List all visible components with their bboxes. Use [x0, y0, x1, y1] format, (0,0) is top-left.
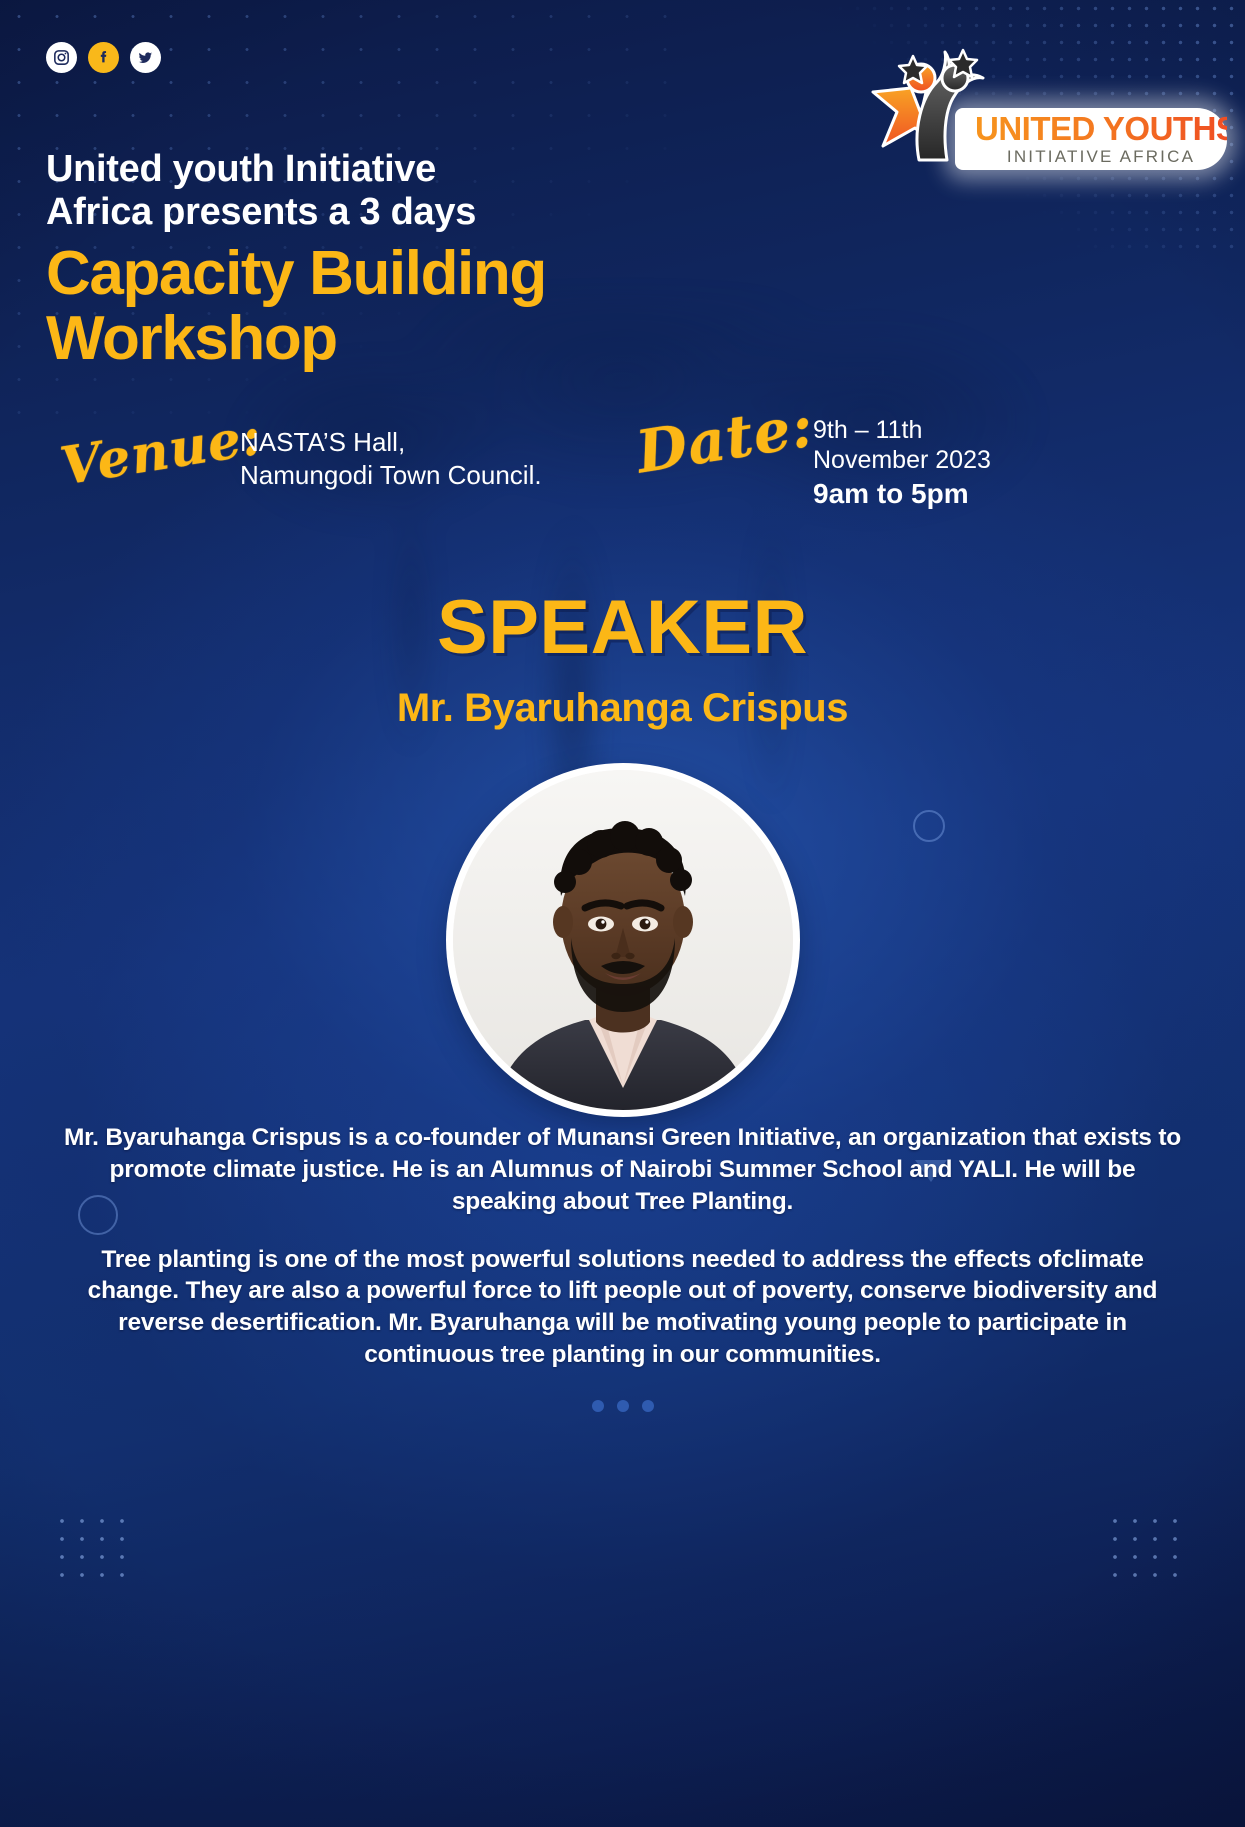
logo-text: UNITED YOUTHS INITIATIVE AFRICA — [975, 112, 1227, 167]
date-details: 9th – 11th November 2023 9am to 5pm — [813, 416, 991, 511]
speaker-heading: SPEAKER — [0, 584, 1245, 671]
speaker-portrait — [453, 770, 793, 1110]
footer-dots-decoration — [0, 1400, 1245, 1412]
dot-grid-bottom-left — [52, 1512, 132, 1582]
speaker-bio: Mr. Byaruhanga Crispus is a co-founder o… — [62, 1122, 1183, 1371]
social-links — [46, 42, 161, 73]
event-poster: + — [0, 0, 1245, 1827]
bio-paragraph-1: Mr. Byaruhanga Crispus is a co-founder o… — [62, 1122, 1183, 1218]
instagram-icon[interactable] — [46, 42, 77, 73]
logo-sub-text: INITIATIVE AFRICA — [975, 147, 1227, 167]
headline-block: United youth Initiative Africa presents … — [46, 148, 686, 373]
logo-main-text: UNITED YOUTHS — [975, 112, 1227, 145]
date-time-range: 9am to 5pm — [813, 477, 991, 511]
date-script-label: Date: — [633, 396, 818, 481]
facebook-icon[interactable] — [88, 42, 119, 73]
footer-dot — [592, 1400, 604, 1412]
footer-dot — [642, 1400, 654, 1412]
event-title-line-2: Workshop — [46, 306, 686, 373]
venue-line-1: NASTA’S Hall, — [240, 426, 542, 459]
date-line-2: November 2023 — [813, 446, 991, 476]
venue-date-row: Venue: NASTA’S Hall, Namungodi Town Coun… — [48, 404, 1198, 516]
event-title-line-1: Capacity Building — [46, 241, 686, 308]
venue-details: NASTA’S Hall, Namungodi Town Council. — [240, 426, 542, 493]
headline-line-2: Africa presents a 3 days — [46, 191, 686, 234]
footer-dot — [617, 1400, 629, 1412]
venue-line-2: Namungodi Town Council. — [240, 459, 542, 492]
venue-script-label: Venue: — [57, 410, 265, 493]
date-line-1: 9th – 11th — [813, 416, 991, 446]
headline-line-1: United youth Initiative — [46, 148, 686, 191]
organization-logo: UNITED YOUTHS INITIATIVE AFRICA — [857, 30, 1227, 170]
bio-paragraph-2: Tree planting is one of the most powerfu… — [62, 1244, 1183, 1371]
dot-grid-bottom-right — [1105, 1512, 1185, 1582]
circle-outline-decoration — [913, 810, 945, 842]
speaker-name: Mr. Byaruhanga Crispus — [0, 686, 1245, 731]
twitter-icon[interactable] — [130, 42, 161, 73]
